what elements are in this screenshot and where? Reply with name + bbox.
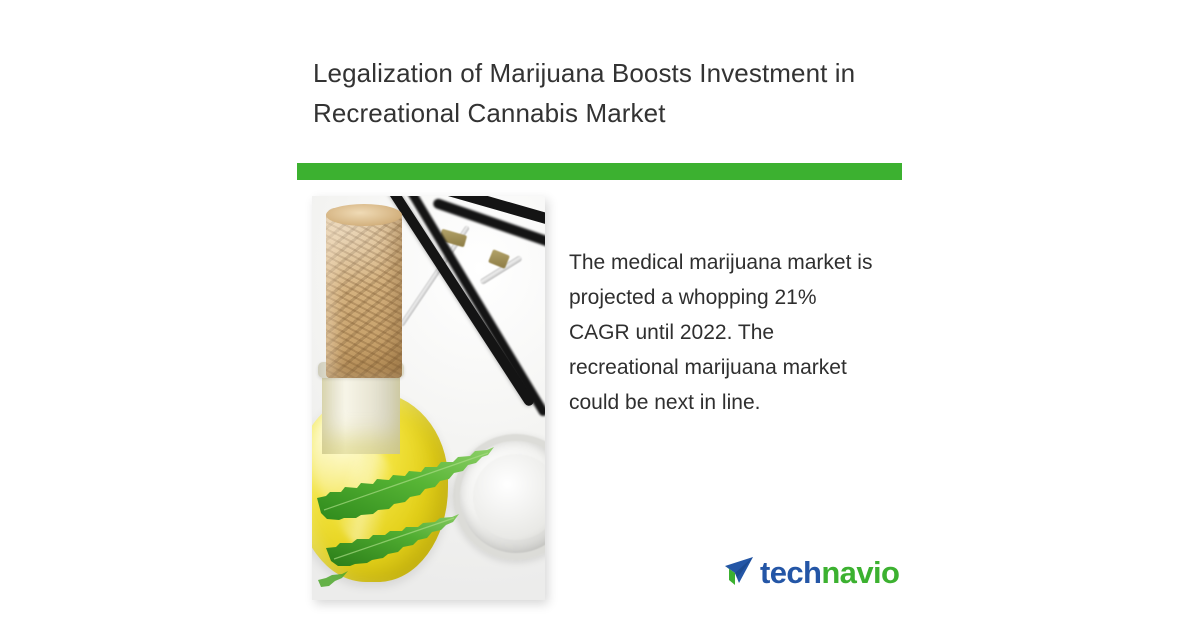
- page-title: Legalization of Marijuana Boosts Investm…: [313, 53, 913, 133]
- accent-divider: [297, 163, 902, 180]
- technavio-logo[interactable]: technavio: [722, 556, 899, 588]
- poster-canvas: Legalization of Marijuana Boosts Investm…: [0, 0, 1200, 627]
- photo-card: [312, 196, 545, 600]
- cannabis-leaf-icon: [312, 400, 545, 600]
- cannabis-leaves: [312, 400, 545, 600]
- cannabis-oil-photo: [312, 196, 545, 600]
- wordmark-tech: tech: [760, 555, 821, 590]
- wordmark-navio: navio: [821, 555, 899, 590]
- technavio-wordmark: technavio: [760, 557, 899, 588]
- cork-stopper-top: [326, 204, 402, 226]
- body-text: The medical marijuana market is projecte…: [569, 245, 879, 420]
- paper-plane-icon: [722, 556, 756, 588]
- cork-stopper: [326, 208, 402, 378]
